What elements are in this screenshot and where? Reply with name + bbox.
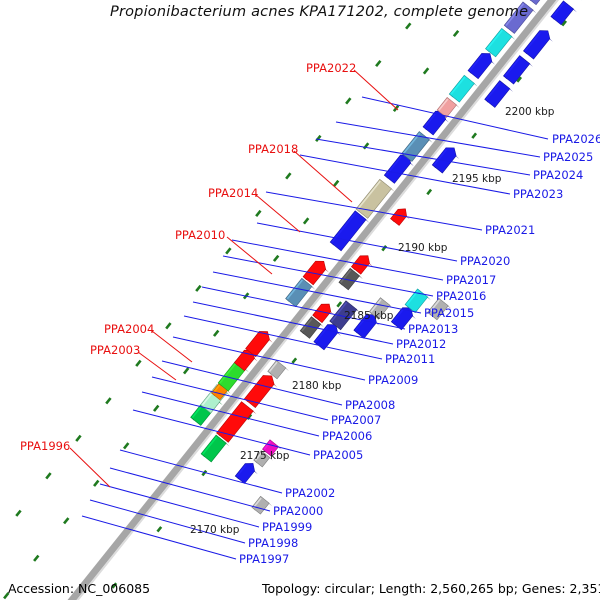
label-leader [173, 337, 365, 380]
gene-label-ppa2023[interactable]: PPA2023 [513, 187, 563, 201]
gene-label-ppa2025[interactable]: PPA2025 [543, 150, 593, 164]
gene-label-ppa1998[interactable]: PPA1998 [248, 536, 298, 550]
gene-label-ppa2015[interactable]: PPA2015 [424, 306, 474, 320]
accession-text: Accession: NC_006085 [8, 581, 150, 596]
label-leader [184, 316, 382, 359]
scale-tick-label: 2175 kbp [240, 450, 289, 462]
gene-label-ppa2020[interactable]: PPA2020 [460, 254, 510, 268]
gene-label-ppa2014[interactable]: PPA2014 [208, 186, 258, 200]
gene-label-ppa2012[interactable]: PPA2012 [396, 337, 446, 351]
gene-label-ppa2026[interactable]: PPA2026 [552, 132, 600, 146]
label-leader [316, 139, 530, 175]
scale-tick-label: 2190 kbp [398, 242, 447, 254]
label-leader [223, 256, 433, 296]
label-leader [354, 70, 398, 110]
label-leader [70, 448, 110, 487]
label-leader [256, 195, 300, 232]
gene-label-ppa2002[interactable]: PPA2002 [285, 486, 335, 500]
label-leader [202, 287, 405, 329]
scale-tick-label: 2180 kbp [292, 380, 341, 392]
label-leader [110, 468, 270, 511]
scale-tick-label: 2195 kbp [452, 173, 501, 185]
label-leader [213, 272, 421, 313]
label-leader [294, 151, 352, 202]
scale-tick-label: 2170 kbp [190, 524, 239, 536]
label-leader [266, 192, 482, 230]
page-title: Propionibacterium acnes KPA171202, compl… [110, 4, 528, 20]
gene-label-ppa2021[interactable]: PPA2021 [485, 223, 535, 237]
label-leader [100, 484, 259, 527]
label-leader [90, 500, 245, 543]
gene-label-ppa2008[interactable]: PPA2008 [345, 398, 395, 412]
gene-label-ppa2000[interactable]: PPA2000 [273, 504, 323, 518]
label-leader [142, 392, 319, 436]
gene-label-ppa1999[interactable]: PPA1999 [262, 520, 312, 534]
label-leader [82, 516, 236, 559]
label-leader [138, 352, 176, 380]
gene-label-ppa2003[interactable]: PPA2003 [90, 343, 140, 357]
gene-label-ppa2017[interactable]: PPA2017 [446, 273, 496, 287]
gene-label-ppa2010[interactable]: PPA2010 [175, 228, 225, 242]
gene-label-ppa2022[interactable]: PPA2022 [306, 61, 356, 75]
genome-map-canvas[interactable]: Propionibacterium acnes KPA171202, compl… [0, 0, 600, 600]
topology-summary-text: Topology: circular; Length: 2,560,265 bp… [262, 581, 600, 596]
label-leader [336, 122, 540, 157]
label-leader [227, 237, 272, 274]
gene-label-ppa2013[interactable]: PPA2013 [408, 322, 458, 336]
label-leader [152, 331, 192, 362]
gene-label-ppa2007[interactable]: PPA2007 [331, 413, 381, 427]
gene-label-ppa1997[interactable]: PPA1997 [239, 552, 289, 566]
scale-tick-label: 2200 kbp [505, 106, 554, 118]
gene-label-ppa2009[interactable]: PPA2009 [368, 373, 418, 387]
gene-label-ppa2011[interactable]: PPA2011 [385, 352, 435, 366]
label-leader [193, 302, 393, 344]
gene-label-ppa2018[interactable]: PPA2018 [248, 142, 298, 156]
gene-label-ppa2005[interactable]: PPA2005 [313, 448, 363, 462]
gene-label-ppa1996[interactable]: PPA1996 [20, 439, 70, 453]
gene-label-ppa2006[interactable]: PPA2006 [322, 429, 372, 443]
gene-label-ppa2024[interactable]: PPA2024 [533, 168, 583, 182]
label-leader [133, 410, 310, 455]
gene-label-ppa2004[interactable]: PPA2004 [104, 322, 154, 336]
gene-label-ppa2016[interactable]: PPA2016 [436, 289, 486, 303]
scale-tick-label: 2185 kbp [344, 310, 393, 322]
